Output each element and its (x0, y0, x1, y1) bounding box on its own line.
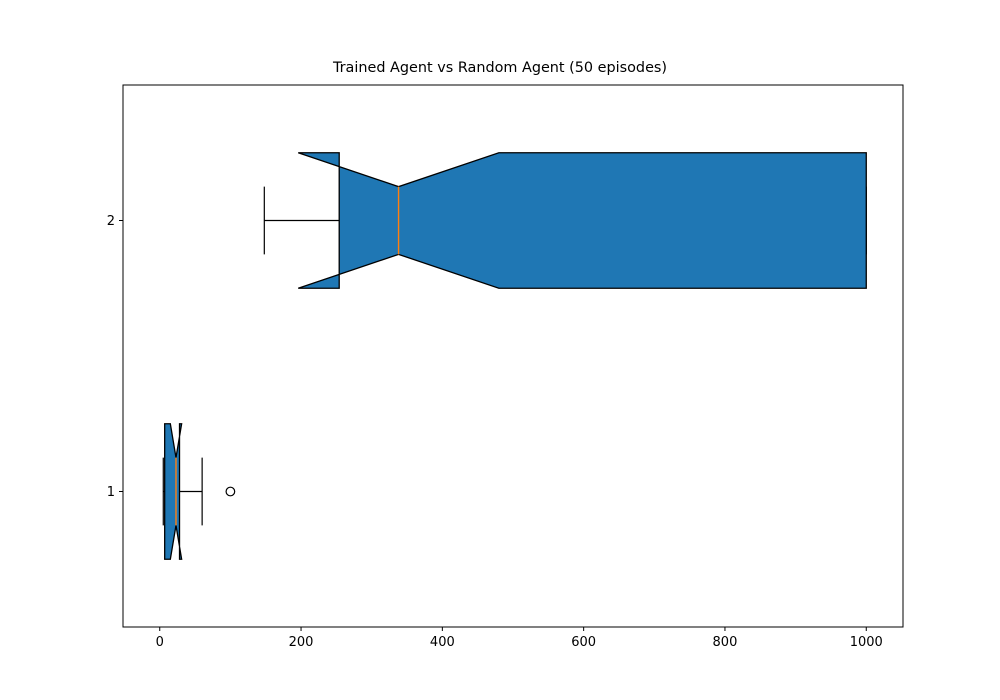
y-tick-label: 1 (107, 485, 115, 500)
x-tick-label: 600 (571, 635, 596, 650)
x-tick-label: 400 (430, 635, 455, 650)
x-tick-label: 1000 (850, 635, 883, 650)
y-tick-label: 2 (107, 214, 115, 229)
x-axis-ticks: 02004006008001000 (156, 627, 883, 650)
figure-canvas: Trained Agent vs Random Agent (50 episod… (0, 0, 1000, 700)
x-tick-label: 200 (289, 635, 314, 650)
y-axis-ticks: 12 (107, 214, 123, 500)
x-tick-label: 800 (713, 635, 738, 650)
x-tick-label: 0 (156, 635, 164, 650)
boxplot-chart: 02004006008001000 12 (0, 0, 1000, 700)
box-shape (165, 424, 182, 560)
box-group (264, 153, 866, 289)
